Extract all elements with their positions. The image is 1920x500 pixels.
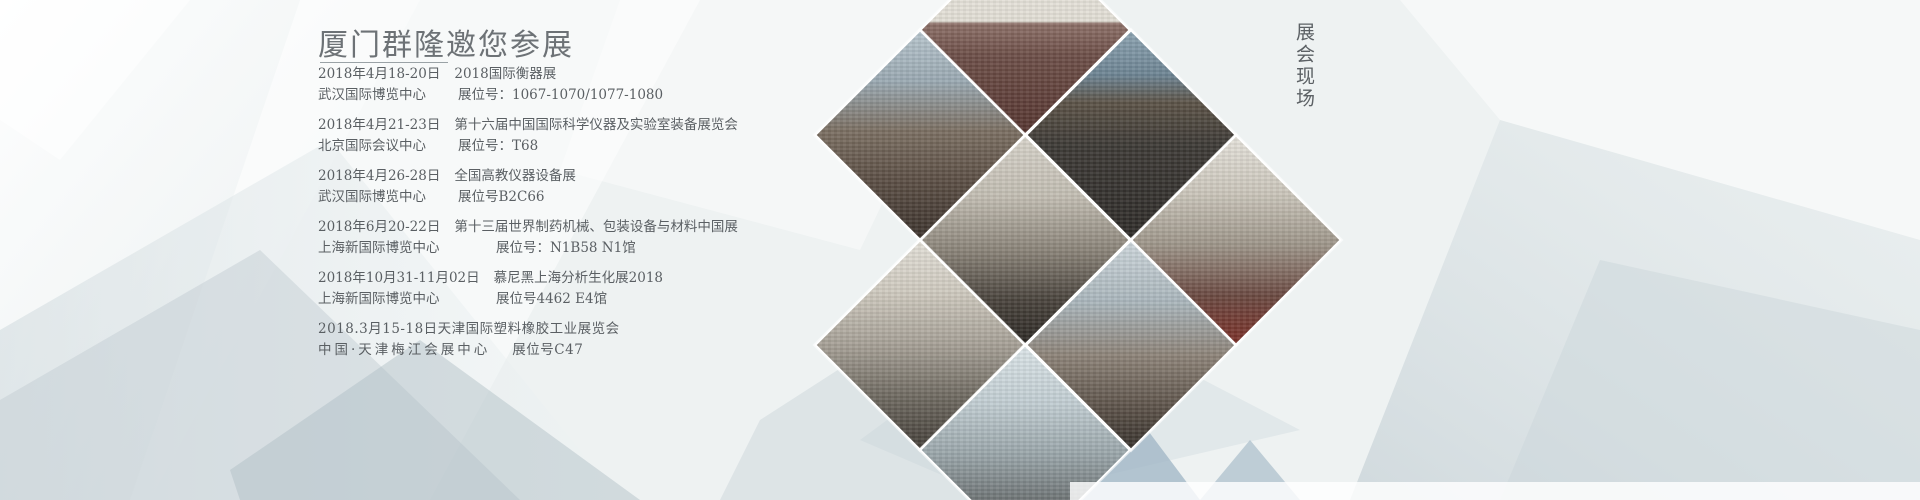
event-booth: 展位号C47 bbox=[490, 340, 583, 361]
event-name: 慕尼黑上海分析生化展2018 bbox=[480, 268, 663, 289]
page-title: 厦门群隆邀您参展 bbox=[318, 20, 574, 64]
event-name: 第十三届世界制药机械、包装设备与材料中国展 bbox=[440, 217, 738, 238]
event-item: 2018年10月31-11月02日慕尼黑上海分析生化展2018 上海新国际博览中… bbox=[318, 268, 878, 310]
event-name: 第十六届中国国际科学仪器及实验室装备展览会 bbox=[440, 115, 738, 136]
event-booth: 展位号：1067-1070/1077-1080 bbox=[440, 85, 663, 106]
bottom-white-band bbox=[1070, 482, 1920, 500]
event-line-bottom: 武汉国际博览中心展位号B2C66 bbox=[318, 187, 878, 208]
event-date: 2018.3月15-18日 bbox=[318, 319, 438, 340]
event-date: 2018年4月26-28日 bbox=[318, 166, 440, 187]
event-line-top: 2018年10月31-11月02日慕尼黑上海分析生化展2018 bbox=[318, 268, 878, 289]
event-booth: 展位号B2C66 bbox=[440, 187, 545, 208]
event-line-bottom: 北京国际会议中心展位号：T68 bbox=[318, 136, 878, 157]
event-line-bottom: 武汉国际博览中心展位号：1067-1070/1077-1080 bbox=[318, 85, 878, 106]
event-date: 2018年4月21-23日 bbox=[318, 115, 440, 136]
event-list: 2018年4月18-20日2018国际衡器展 武汉国际博览中心展位号：1067-… bbox=[318, 64, 878, 370]
invitation-text-column: 厦门群隆邀您参展 2018年4月18-20日2018国际衡器展 武汉国际博览中心… bbox=[0, 0, 900, 500]
event-venue: 武汉国际博览中心 bbox=[318, 85, 440, 106]
event-venue: 武汉国际博览中心 bbox=[318, 187, 440, 208]
event-item: 2018年6月20-22日第十三届世界制药机械、包装设备与材料中国展 上海新国际… bbox=[318, 217, 878, 259]
event-item: 2018年4月26-28日全国高教仪器设备展 武汉国际博览中心展位号B2C66 bbox=[318, 166, 878, 208]
event-name: 天津国际塑料橡胶工业展览会 bbox=[438, 319, 620, 340]
event-booth: 展位号4462 E4馆 bbox=[478, 289, 607, 310]
exhibition-invitation-banner: 厦门群隆邀您参展 2018年4月18-20日2018国际衡器展 武汉国际博览中心… bbox=[0, 0, 1920, 500]
event-line-bottom: 中国·天津梅江会展中心展位号C47 bbox=[318, 340, 878, 361]
event-item: 2018年4月18-20日2018国际衡器展 武汉国际博览中心展位号：1067-… bbox=[318, 64, 878, 106]
event-venue: 北京国际会议中心 bbox=[318, 136, 440, 157]
event-name: 全国高教仪器设备展 bbox=[440, 166, 576, 187]
event-venue: 上海新国际博览中心 bbox=[318, 289, 478, 310]
event-line-bottom: 上海新国际博览中心展位号：N1B58 N1馆 bbox=[318, 238, 878, 259]
event-date: 2018年10月31-11月02日 bbox=[318, 268, 480, 289]
event-item: 2018.3月15-18日天津国际塑料橡胶工业展览会 中国·天津梅江会展中心展位… bbox=[318, 319, 878, 361]
event-line-top: 2018.3月15-18日天津国际塑料橡胶工业展览会 bbox=[318, 319, 878, 340]
event-booth: 展位号：N1B58 N1馆 bbox=[478, 238, 636, 259]
event-venue: 中国·天津梅江会展中心 bbox=[318, 340, 490, 361]
event-booth: 展位号：T68 bbox=[440, 136, 538, 157]
vertical-section-title: 展会现场 bbox=[1287, 22, 1317, 110]
event-date: 2018年6月20-22日 bbox=[318, 217, 440, 238]
event-date: 2018年4月18-20日 bbox=[318, 64, 440, 85]
event-venue: 上海新国际博览中心 bbox=[318, 238, 478, 259]
event-line-top: 2018年4月26-28日全国高教仪器设备展 bbox=[318, 166, 878, 187]
event-name: 2018国际衡器展 bbox=[440, 64, 556, 85]
title-underline bbox=[320, 62, 448, 63]
event-line-bottom: 上海新国际博览中心展位号4462 E4馆 bbox=[318, 289, 878, 310]
event-line-top: 2018年6月20-22日第十三届世界制药机械、包装设备与材料中国展 bbox=[318, 217, 878, 238]
event-line-top: 2018年4月18-20日2018国际衡器展 bbox=[318, 64, 878, 85]
event-line-top: 2018年4月21-23日第十六届中国国际科学仪器及实验室装备展览会 bbox=[318, 115, 878, 136]
event-item: 2018年4月21-23日第十六届中国国际科学仪器及实验室装备展览会 北京国际会… bbox=[318, 115, 878, 157]
